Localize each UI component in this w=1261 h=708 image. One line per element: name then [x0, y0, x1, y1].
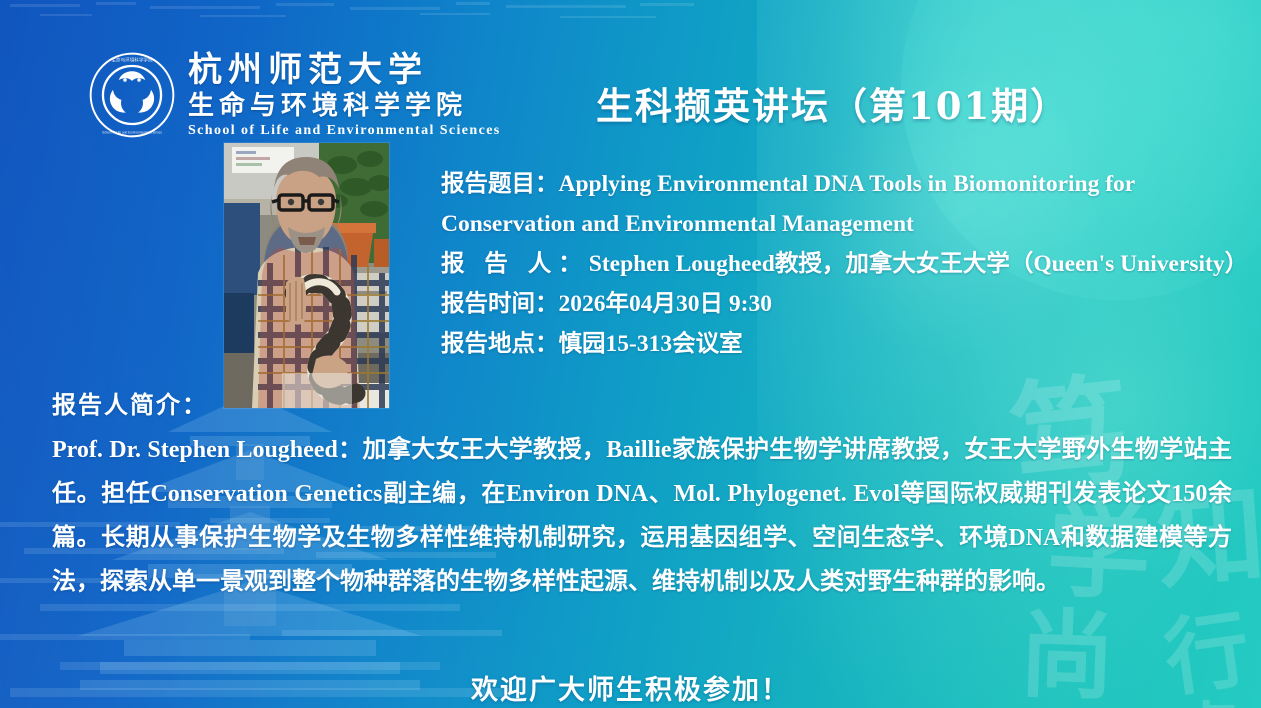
detail-row-speaker: 报 告 人：Stephen Lougheed教授，加拿大女王大学（Queen's…: [441, 244, 1253, 284]
school-seal-icon: 生命与环境科学学院 School of Life and Environment…: [88, 51, 176, 139]
welcome-message: 欢迎广大师生积极参加！: [0, 668, 1261, 707]
detail-value-location: 慎园15-313会议室: [559, 331, 743, 357]
page-title: 生科撷英讲坛（第101期）: [596, 76, 1069, 130]
detail-row-title: 报告题目：Applying Environmental DNA Tools in…: [441, 164, 1253, 244]
svg-text:生命与环境科学学院: 生命与环境科学学院: [111, 57, 153, 64]
school-logo-block: 生命与环境科学学院 School of Life and Environment…: [88, 50, 501, 140]
svg-text:School of Life and Environment: School of Life and Environmental Science…: [102, 131, 162, 135]
school-name-block: 杭州师范大学 生命与环境科学学院 School of Life and Envi…: [188, 50, 501, 140]
detail-label-speaker: 报 告 人：: [441, 251, 589, 277]
detail-value-speaker: Stephen Lougheed教授，加拿大女王大学（Queen's Unive…: [589, 251, 1248, 277]
speaker-photo-illustration: [224, 143, 389, 408]
speaker-photo: [224, 143, 389, 408]
bio-text: Prof. Dr. Stephen Lougheed：加拿大女王大学教授，Bai…: [52, 428, 1232, 604]
detail-row-time: 报告时间：2026年04月30日 9:30: [441, 284, 1253, 324]
detail-value-time: 2026年04月30日 9:30: [559, 291, 772, 317]
seminar-poster: 笃 学 知 尚 行 卓 越 生命与环境科学学院 Sch: [0, 0, 1261, 708]
detail-row-location: 报告地点：慎园15-313会议室: [441, 324, 1253, 364]
school-name-cn-line2: 生命与环境科学学院: [188, 90, 501, 122]
detail-label-time: 报告时间：: [441, 291, 559, 317]
school-name-en: School of Life and Environmental Science…: [188, 122, 501, 140]
detail-label-location: 报告地点：: [441, 331, 559, 357]
detail-label-title: 报告题目：: [441, 171, 559, 197]
talk-details: 报告题目：Applying Environmental DNA Tools in…: [441, 164, 1253, 364]
school-name-cn-line1: 杭州师范大学: [188, 50, 501, 90]
bio-heading: 报告人简介：: [52, 385, 208, 420]
poster-header: 生命与环境科学学院 School of Life and Environment…: [0, 0, 1261, 150]
